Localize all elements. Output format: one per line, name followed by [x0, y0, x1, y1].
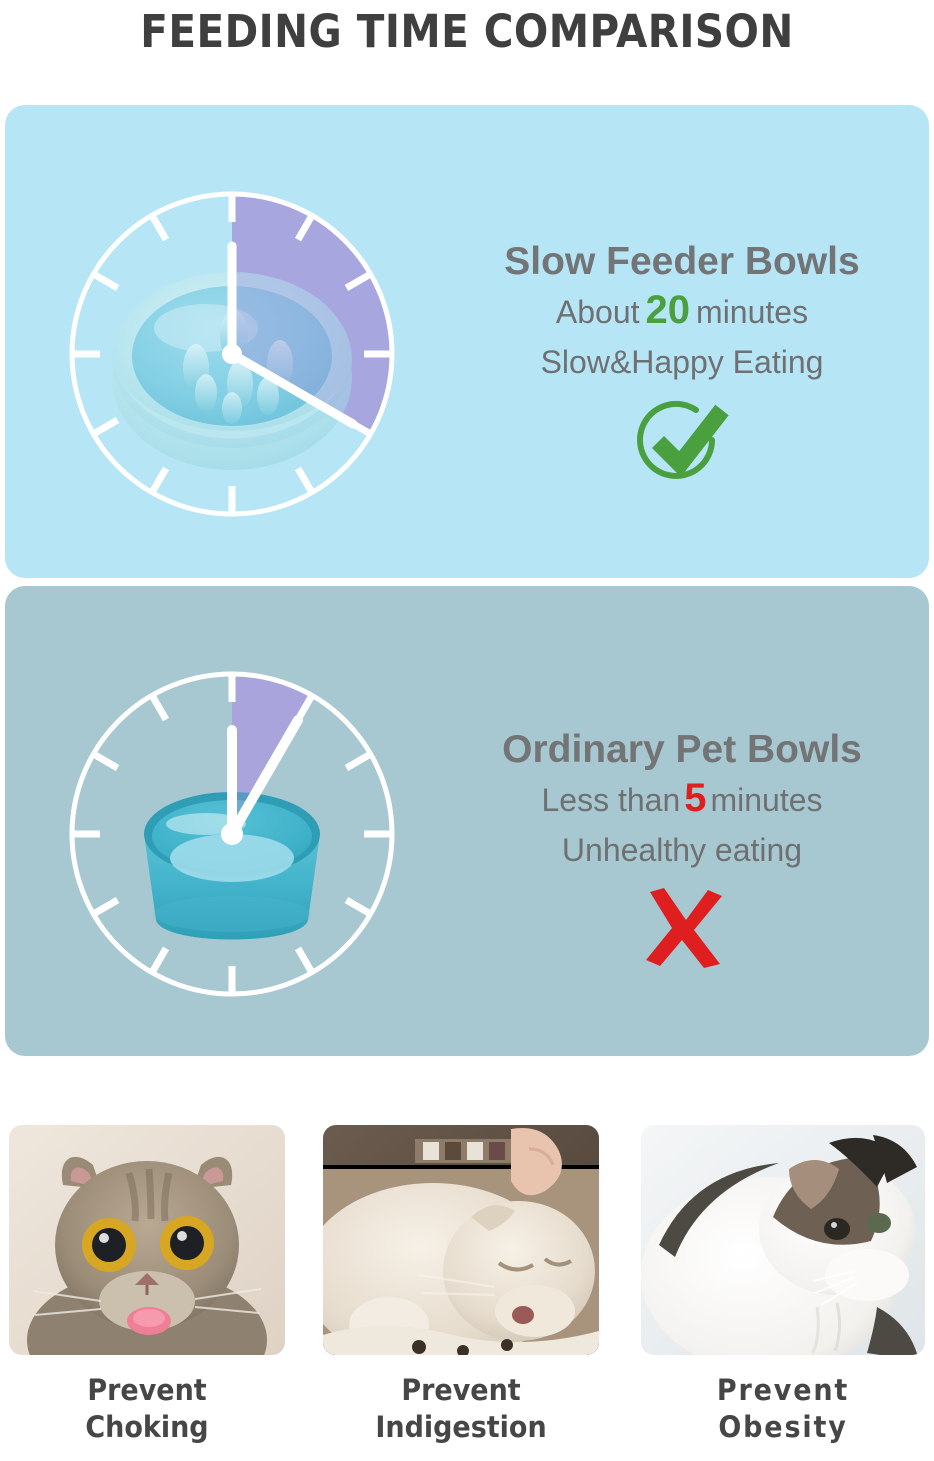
- benefit-photo-choking: [9, 1125, 285, 1355]
- caption-prevent-obesity: Prevent Obesity: [651, 1372, 915, 1446]
- slow-feeder-time-value: 20: [640, 288, 697, 332]
- slow-feeder-time-line: About20minutes: [432, 286, 932, 336]
- clock-slow-feeder: [56, 178, 408, 530]
- page-title: FEEDING TIME COMPARISON: [47, 0, 888, 62]
- ordinary-bowl-heading: Ordinary Pet Bowls: [432, 726, 932, 774]
- slow-feeder-time-suffix: minutes: [696, 294, 808, 330]
- caption-indigestion-line1: Prevent: [333, 1372, 590, 1409]
- clock-ordinary-bowl: [56, 658, 408, 1010]
- ordinary-bowl-time-suffix: minutes: [710, 782, 822, 818]
- caption-prevent-choking: Prevent Choking: [19, 1372, 276, 1446]
- ordinary-bowl-time-line: Less than5minutes: [432, 774, 932, 824]
- benefit-photo-indigestion: [323, 1125, 599, 1355]
- benefit-caption-row: Prevent Choking Prevent Indigestion Prev…: [0, 1372, 934, 1458]
- red-cross-icon: [432, 886, 932, 970]
- ordinary-bowl-time-prefix: Less than: [541, 782, 680, 818]
- caption-choking-line2: Choking: [19, 1409, 276, 1446]
- clock-center-cap: [222, 344, 242, 364]
- caption-prevent-indigestion: Prevent Indigestion: [333, 1372, 590, 1446]
- caption-obesity-line1: Prevent: [651, 1372, 915, 1409]
- slow-feeder-heading: Slow Feeder Bowls: [432, 238, 932, 286]
- green-check-icon: [432, 398, 932, 488]
- ordinary-bowl-subtitle: Unhealthy eating: [432, 826, 932, 874]
- clock-center-cap: [221, 823, 243, 845]
- caption-obesity-line2: Obesity: [651, 1409, 915, 1446]
- caption-choking-line1: Prevent: [19, 1372, 276, 1409]
- slow-feeder-time-prefix: About: [556, 294, 640, 330]
- caption-indigestion-line2: Indigestion: [333, 1409, 590, 1446]
- ordinary-bowl-text-block: Ordinary Pet Bowls Less than5minutes Unh…: [432, 726, 932, 970]
- ordinary-bowl-time-value: 5: [680, 776, 710, 820]
- benefit-photo-obesity: [641, 1125, 925, 1355]
- benefit-photo-row: [0, 1125, 934, 1355]
- slow-feeder-text-block: Slow Feeder Bowls About20minutes Slow&Ha…: [432, 238, 932, 488]
- slow-feeder-subtitle: Slow&Happy Eating: [432, 338, 932, 386]
